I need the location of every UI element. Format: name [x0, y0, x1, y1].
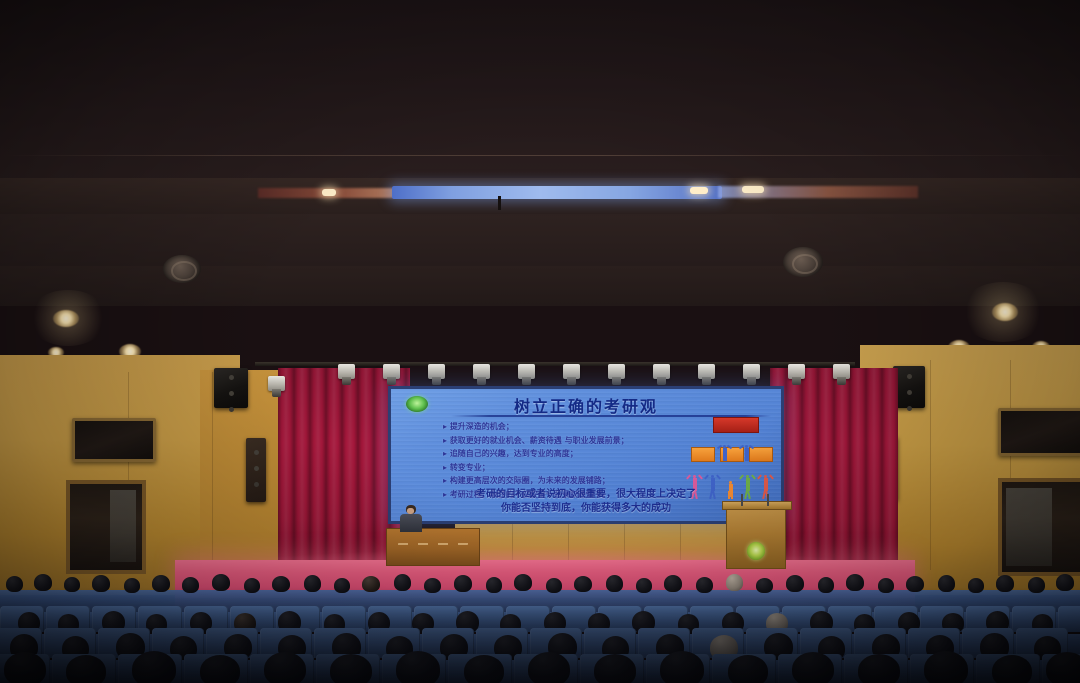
lectern-microphone-icon-2	[767, 494, 769, 506]
stage-light-11	[788, 364, 805, 379]
line-array-speaker-left	[214, 368, 248, 408]
audience-head	[594, 654, 636, 683]
audience-head	[906, 576, 924, 592]
lectern-top	[722, 501, 792, 510]
stage-light-5	[518, 364, 535, 379]
audience-head	[992, 655, 1032, 683]
audience-head	[200, 655, 240, 683]
audience-head	[636, 578, 652, 593]
ceiling-spot-1	[322, 189, 336, 196]
stage-light-1	[338, 364, 355, 379]
audience-head	[846, 574, 864, 591]
audience-head	[878, 578, 894, 593]
audience-head	[818, 577, 834, 593]
auditorium-photo: 树立正确的考研观 提升深造的机会； 获取更好的就业机会、薪资待遇 与职业发展前景…	[0, 0, 1080, 683]
stage-light-8	[653, 364, 670, 379]
audience-head	[304, 575, 321, 592]
presenter-face	[407, 508, 414, 514]
audience-head	[786, 575, 804, 592]
audience-head	[660, 651, 704, 683]
audience-head	[1028, 577, 1045, 593]
presenter	[398, 505, 424, 531]
audience-head	[696, 577, 713, 593]
audience-head	[34, 574, 52, 591]
audience-head	[454, 575, 472, 592]
audience-head	[424, 578, 441, 593]
audience-head	[938, 575, 955, 592]
audience-head	[6, 576, 23, 592]
audience-head	[124, 578, 140, 593]
audience-head	[330, 654, 372, 683]
audience-head	[528, 652, 570, 683]
audience-head	[546, 578, 562, 593]
downlight-4	[992, 303, 1018, 321]
audience-head	[244, 578, 260, 593]
audience-head	[728, 655, 768, 683]
slide-bullet-2: 获取更好的就业机会、薪资待遇 与职业发展前景；	[443, 434, 708, 448]
audience-head	[396, 651, 440, 683]
ceiling-spot-3	[742, 186, 764, 193]
ceiling-spot-2	[690, 187, 708, 194]
audience-area	[0, 556, 1080, 683]
audience-head	[858, 654, 900, 683]
slide-footer-line-1: 考研的目标或者说初心很重要，很大程度上决定了	[391, 488, 781, 502]
slide-title: 树立正确的考研观	[391, 393, 781, 417]
stage-light-12	[833, 364, 850, 379]
stage-monitor-speaker-left	[246, 438, 266, 502]
audience-head	[1056, 574, 1074, 591]
stage-light-4	[473, 364, 490, 379]
audience-head	[4, 652, 46, 683]
audience-head	[514, 574, 532, 591]
audience-head	[394, 574, 411, 591]
audience-head	[968, 578, 984, 593]
lectern-microphone-icon	[741, 494, 743, 506]
audience-head	[726, 574, 743, 591]
audience-head	[792, 652, 834, 683]
audience-head	[362, 576, 380, 592]
teamwork-pyramid-graphic	[685, 417, 775, 499]
presenter-body	[400, 514, 422, 532]
audience-head	[574, 576, 592, 592]
audience-head	[132, 651, 176, 683]
stage-light-3	[428, 364, 445, 379]
audience-head	[486, 577, 502, 593]
audience-head	[606, 575, 623, 592]
audience-head	[92, 575, 110, 592]
ceiling-vent-left	[163, 255, 201, 283]
slide-bullet-4: 转变专业；	[443, 461, 708, 475]
stage-light-7	[608, 364, 625, 379]
wall-monitor-left	[72, 418, 156, 462]
audience-head	[334, 578, 350, 593]
slide-bullet-1: 提升深造的机会；	[443, 420, 708, 434]
audience-head	[182, 577, 199, 593]
audience-head	[212, 574, 230, 591]
audience-head	[152, 575, 170, 592]
ceiling-vent-right	[783, 247, 823, 277]
slide-bullet-5: 构建更高层次的交际圈，为未来的发展铺路；	[443, 474, 708, 488]
audience-head	[756, 578, 773, 593]
wall-monitor-right	[998, 408, 1080, 456]
audience-head	[464, 655, 504, 683]
slide-bullet-3: 追随自己的兴趣，达到专业的高度；	[443, 447, 708, 461]
stage-light-2	[383, 364, 400, 379]
audience-head	[272, 576, 290, 592]
pyramid-figure-upper-1	[719, 441, 730, 457]
stage-light-13	[268, 376, 285, 391]
stage-light-6	[563, 364, 580, 379]
downlight-1	[53, 310, 79, 327]
pyramid-figure-upper-2	[741, 441, 752, 457]
audience-head	[66, 655, 106, 683]
audience-head	[664, 575, 682, 592]
audience-head	[1046, 652, 1080, 683]
audience-head	[996, 575, 1014, 592]
audience-head	[924, 651, 968, 683]
audience-head	[264, 652, 306, 683]
audience-head	[64, 577, 80, 592]
pyramid-top-block	[713, 417, 759, 433]
led-strip-center	[392, 186, 722, 199]
stage-light-10	[743, 364, 760, 379]
stage-light-9	[698, 364, 715, 379]
